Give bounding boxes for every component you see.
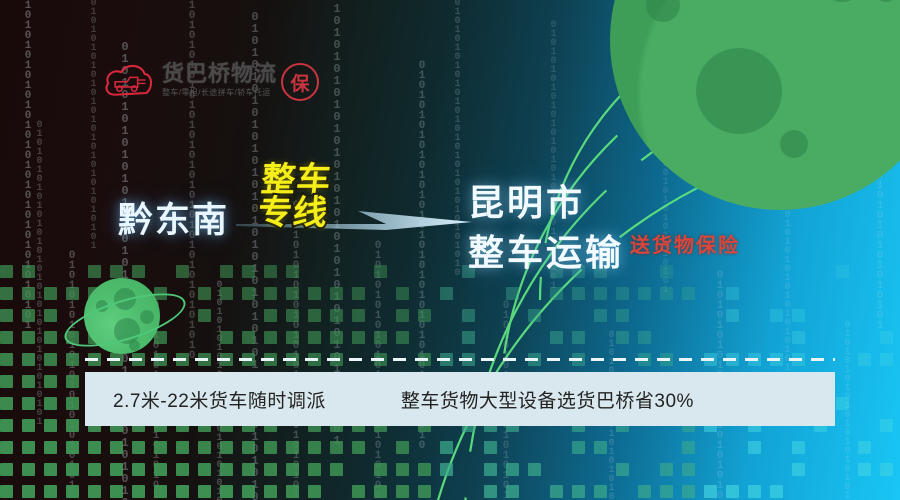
pixel-square: [176, 463, 189, 476]
pixel-square: [682, 485, 695, 498]
pixel-square: [396, 331, 409, 344]
pixel-square: [110, 463, 123, 476]
pixel-square: [22, 353, 35, 366]
pixel-square: [286, 287, 299, 300]
pixel-square: [660, 463, 673, 476]
pixel-square: [22, 265, 35, 278]
pixel-square: [0, 463, 13, 476]
pixel-square: [792, 441, 805, 454]
pixel-square: [396, 485, 409, 498]
pixel-square: [264, 309, 277, 322]
pixel-square: [132, 485, 145, 498]
pixel-square: [0, 485, 13, 498]
pixel-square: [286, 265, 299, 278]
pixel-square: [506, 287, 519, 300]
pixel-square: [22, 375, 35, 388]
pixel-square: [264, 265, 277, 278]
pixel-square: [682, 463, 695, 476]
pixel-square: [220, 441, 233, 454]
pixel-square: [572, 441, 585, 454]
pixel-square: [0, 353, 13, 366]
pixel-square: [616, 331, 629, 344]
footer-right-text: 整车货物大型设备选货巴桥省30%: [401, 386, 694, 413]
pixel-square: [440, 441, 453, 454]
pixel-square: [572, 331, 585, 344]
pixel-square: [44, 309, 57, 322]
pixel-square: [550, 287, 563, 300]
pixel-square: [220, 265, 233, 278]
pixel-square: [484, 485, 497, 498]
pixel-square: [308, 331, 321, 344]
pixel-square: [0, 397, 13, 410]
pixel-square: [374, 331, 387, 344]
pixel-square: [836, 265, 849, 278]
pixel-square: [286, 463, 299, 476]
pixel-square: [286, 331, 299, 344]
dashed-divider: [85, 358, 835, 361]
pixel-square: [220, 331, 233, 344]
pixel-square: [66, 287, 79, 300]
insurance-note: 送货物保险: [630, 229, 740, 258]
pixel-square: [242, 441, 255, 454]
pixel-square: [88, 463, 101, 476]
pixel-square: [462, 309, 475, 322]
pixel-square: [770, 485, 783, 498]
pixel-square: [330, 463, 343, 476]
pixel-square: [660, 485, 673, 498]
pixel-square: [836, 397, 849, 410]
pixel-square: [594, 485, 607, 498]
pixel-square: [638, 287, 651, 300]
pixel-square: [484, 463, 497, 476]
route-label: 整车 专线: [253, 163, 374, 263]
pixel-square: [110, 441, 123, 454]
pixel-square: [264, 331, 277, 344]
binary-code-column: 010101010101010101010101010101: [88, 0, 99, 160]
pixel-square: [264, 441, 277, 454]
pixel-square: [242, 463, 255, 476]
pixel-square: [66, 463, 79, 476]
pixel-square: [44, 397, 57, 410]
pixel-square: [22, 397, 35, 410]
pixel-square: [418, 485, 431, 498]
pixel-square: [374, 485, 387, 498]
pixel-square: [176, 441, 189, 454]
pixel-square: [264, 463, 277, 476]
pixel-square: [308, 287, 321, 300]
pixel-square: [308, 485, 321, 498]
pixel-square: [726, 309, 739, 322]
pixel-square: [0, 309, 13, 322]
pixel-square: [858, 441, 871, 454]
pixel-square: [594, 441, 607, 454]
insurance-badge: 保: [281, 63, 319, 101]
pixel-square: [242, 287, 255, 300]
pixel-square: [330, 441, 343, 454]
pixel-square: [22, 441, 35, 454]
pixel-square: [242, 331, 255, 344]
pixel-square: [44, 485, 57, 498]
pixel-square: [572, 485, 585, 498]
pixel-square: [484, 441, 497, 454]
pixel-square: [176, 265, 189, 278]
pixel-square: [220, 287, 233, 300]
pixel-square: [66, 419, 79, 432]
pixel-square: [638, 331, 651, 344]
pixel-square: [0, 441, 13, 454]
pixel-square: [286, 485, 299, 498]
pixel-square: [154, 463, 167, 476]
pixel-square: [550, 485, 563, 498]
pixel-square: [330, 287, 343, 300]
brand-name: 货巴桥物流: [162, 62, 277, 85]
pixel-square: [44, 287, 57, 300]
destination-line1: 昆明市: [468, 178, 624, 228]
pixel-square: [66, 353, 79, 366]
pixel-square: [110, 265, 123, 278]
pixel-square: [440, 463, 453, 476]
pixel-square: [132, 265, 145, 278]
pixel-square: [0, 375, 13, 388]
pixel-square: [220, 463, 233, 476]
pixel-square: [330, 331, 343, 344]
pixel-square: [616, 463, 629, 476]
pixel-square: [132, 441, 145, 454]
pixel-square: [792, 463, 805, 476]
pixel-square: [154, 441, 167, 454]
pixel-square: [330, 309, 343, 322]
pixel-square: [660, 287, 673, 300]
pixel-square: [550, 331, 563, 344]
pixel-square: [176, 485, 189, 498]
pixel-square: [528, 309, 541, 322]
destination-city: 昆明市 整车运输: [468, 178, 624, 277]
pixel-square: [242, 485, 255, 498]
pixel-square: [44, 375, 57, 388]
pixel-square: [44, 441, 57, 454]
pixel-square: [198, 463, 211, 476]
pixel-square: [616, 309, 629, 322]
pixel-square: [638, 485, 651, 498]
pixel-square: [88, 441, 101, 454]
pixel-square: [286, 309, 299, 322]
pixel-square: [880, 331, 893, 344]
pixel-square: [418, 463, 431, 476]
pixel-square: [418, 309, 431, 322]
pixel-square: [154, 485, 167, 498]
pixel-square: [726, 287, 739, 300]
pixel-square: [220, 485, 233, 498]
footer-bar: 2.7米-22米货车随时调派 整车货物大型设备选货巴桥省30%: [85, 372, 835, 426]
pixel-square: [792, 331, 805, 344]
pixel-square: [748, 441, 761, 454]
binary-code-column: 0101010101010101010101010101010101: [22, 0, 34, 220]
pixel-square: [22, 485, 35, 498]
pixel-square: [858, 353, 871, 366]
pixel-square: [22, 309, 35, 322]
pixel-square: [616, 287, 629, 300]
destination-line2: 整车运输: [468, 228, 624, 278]
pixel-square: [264, 287, 277, 300]
pixel-square: [0, 331, 13, 344]
pixel-square: [44, 331, 57, 344]
pixel-square: [572, 287, 585, 300]
pixel-square: [308, 441, 321, 454]
truck-cloud-icon: [103, 58, 155, 102]
pixel-square: [66, 397, 79, 410]
pixel-square: [396, 441, 409, 454]
pixel-square: [726, 485, 739, 498]
pixel-square: [132, 463, 145, 476]
pixel-square: [352, 309, 365, 322]
pixel-square: [396, 309, 409, 322]
pixel-square: [682, 441, 695, 454]
pixel-square: [44, 353, 57, 366]
pixel-square: [374, 265, 387, 278]
pixel-square: [198, 441, 211, 454]
pixel-square: [682, 287, 695, 300]
pixel-square: [22, 419, 35, 432]
pixel-square: [242, 265, 255, 278]
pixel-square: [286, 441, 299, 454]
pixel-square: [44, 419, 57, 432]
pixel-square: [660, 265, 673, 278]
pixel-square: [88, 485, 101, 498]
pixel-square: [770, 309, 783, 322]
route-label-line2: 专线: [256, 196, 370, 231]
poster-canvas: 0101010101010101010101010101010101010101…: [0, 0, 900, 500]
pixel-square: [704, 485, 717, 498]
pixel-square: [462, 331, 475, 344]
pixel-square: [352, 287, 365, 300]
pixel-square: [0, 265, 13, 278]
pixel-square: [22, 463, 35, 476]
footer-left-text: 2.7米-22米货车随时调派: [113, 386, 326, 413]
pixel-square: [374, 463, 387, 476]
pixel-square: [308, 463, 321, 476]
pixel-square: [880, 419, 893, 432]
pixel-square: [22, 287, 35, 300]
pixel-square: [198, 287, 211, 300]
pixel-square: [880, 353, 893, 366]
pixel-square: [88, 265, 101, 278]
pixel-square: [528, 463, 541, 476]
pixel-square: [506, 485, 519, 498]
pixel-square: [594, 309, 607, 322]
pixel-square: [352, 331, 365, 344]
pixel-square: [66, 485, 79, 498]
pixel-square: [66, 441, 79, 454]
pixel-square: [44, 463, 57, 476]
pixel-square: [352, 441, 365, 454]
pixel-square: [506, 463, 519, 476]
route-label-line1: 整车: [260, 163, 374, 198]
pixel-square: [198, 309, 211, 322]
pixel-square: [880, 463, 893, 476]
brand-logo: 货巴桥物流 整车/零担/长途拼车/轿车托运: [103, 58, 277, 102]
pixel-square: [264, 485, 277, 498]
pixel-square: [0, 419, 13, 432]
pixel-square: [66, 375, 79, 388]
pixel-square: [858, 463, 871, 476]
pixel-square: [22, 331, 35, 344]
pixel-square: [594, 287, 607, 300]
pixel-square: [748, 485, 761, 498]
brand-tagline: 整车/零担/长途拼车/轿车托运: [162, 87, 277, 98]
pixel-square: [0, 287, 13, 300]
pixel-square: [110, 485, 123, 498]
pixel-square: [352, 485, 365, 498]
origin-city: 黔东南: [118, 192, 229, 243]
pixel-square: [198, 485, 211, 498]
pixel-square: [396, 287, 409, 300]
pixel-square: [308, 309, 321, 322]
pixel-square: [396, 463, 409, 476]
pixel-square: [440, 287, 453, 300]
pixel-square: [792, 309, 805, 322]
